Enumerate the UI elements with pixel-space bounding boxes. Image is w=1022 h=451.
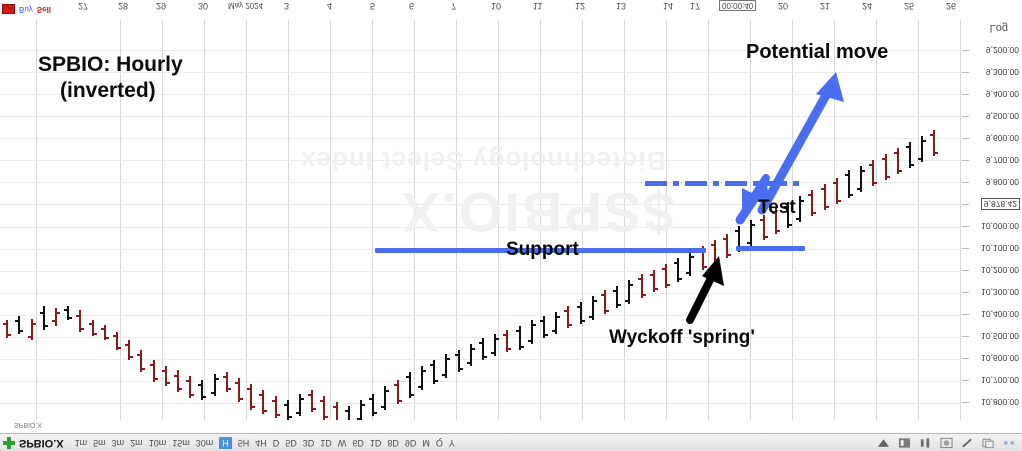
date-tick: 12 xyxy=(575,1,585,11)
timeframe-button-8D[interactable]: 8D xyxy=(387,438,399,448)
chart-plot-area[interactable]: Biotechnology Select Index $SPBIO.X xyxy=(0,20,963,420)
timeframe-button-2m[interactable]: 2m xyxy=(130,438,143,448)
timeframe-button-30m[interactable]: 30m xyxy=(196,438,214,448)
price-tick-dash xyxy=(962,138,969,139)
tc2000-chart-window: Buy Sell 27 28 29 30 May 2024 3 4 5 6 7 … xyxy=(0,0,1022,451)
price-tick-dash xyxy=(962,50,969,51)
label-potential-move: Potential move xyxy=(746,41,888,64)
price-tick-dash xyxy=(962,72,969,73)
price-tick-dash xyxy=(962,314,969,315)
timeframe-toolbar[interactable]: SPBIO.X 1m5m3m2m10m15m30mH5H4HD5D3D1DW6D… xyxy=(0,433,1022,451)
add-icon[interactable] xyxy=(3,437,15,449)
status-strip: SPBIO.X xyxy=(0,420,1022,434)
date-axis[interactable]: Buy Sell 27 28 29 30 May 2024 3 4 5 6 7 … xyxy=(0,0,1022,21)
wyckoff-spring-arrow xyxy=(690,256,724,320)
price-tick-label: 10,200.00 xyxy=(981,265,1019,275)
price-tick-dash xyxy=(962,160,969,161)
date-tick: 14 xyxy=(663,1,673,11)
timeframe-button-1D[interactable]: 1D xyxy=(320,438,332,448)
timeframe-button-9D[interactable]: 9D xyxy=(405,438,417,448)
price-tick-label: 9,800.00 xyxy=(986,177,1019,187)
price-tick-dash xyxy=(962,358,969,359)
timeframe-button-1D[interactable]: 1D xyxy=(370,438,382,448)
ticker-chips: Buy Sell xyxy=(2,0,51,18)
date-tick: 29 xyxy=(156,1,166,11)
price-tick-dash xyxy=(962,94,969,95)
pencil-icon[interactable] xyxy=(961,437,974,449)
date-tick: 13 xyxy=(616,1,626,11)
toolbar-right-group[interactable] xyxy=(875,437,1022,449)
color-swatch-icon xyxy=(2,4,15,14)
candlestick-icon[interactable] xyxy=(919,437,932,449)
price-tick-dash xyxy=(962,380,969,381)
timeframe-button-5H[interactable]: 5H xyxy=(238,438,250,448)
date-tick: 11 xyxy=(533,1,542,11)
date-tick: 4 xyxy=(327,1,332,11)
current-price-box: 9,878.42 xyxy=(981,198,1020,210)
date-tick: 5 xyxy=(370,1,375,11)
timeframe-button-15m[interactable]: 15m xyxy=(172,438,190,448)
bar-chart-icon[interactable] xyxy=(898,437,911,449)
date-tick: 20 xyxy=(778,1,788,11)
date-tick: 26 xyxy=(946,1,956,11)
date-tick: 6 xyxy=(409,1,414,11)
price-tick-dash xyxy=(962,336,969,337)
date-tick: 28 xyxy=(118,1,128,11)
chart-title: SPBIO: Hourly (inverted) xyxy=(38,52,183,105)
date-tick: 24 xyxy=(862,1,872,11)
price-tick-dash xyxy=(962,292,969,293)
price-tick-dash xyxy=(962,182,969,183)
price-tick-dash xyxy=(962,270,969,271)
timeframe-button-Q[interactable]: Q xyxy=(436,438,443,448)
timeframe-button-3D[interactable]: 3D xyxy=(303,438,315,448)
date-tick: 21 xyxy=(820,1,830,11)
date-tick: 7 xyxy=(451,1,456,11)
price-tick-dash xyxy=(962,248,969,249)
date-tick: 30 xyxy=(198,1,208,11)
chip-sell: Sell xyxy=(37,5,51,14)
price-axis[interactable]: Log 9,200.009,300.009,400.009,500.009,60… xyxy=(962,20,1022,420)
price-tick-label: 10,300.00 xyxy=(981,287,1019,297)
price-tick-label: 10,600.00 xyxy=(981,353,1019,363)
date-tick: 25 xyxy=(904,1,914,11)
timeframe-button-1m[interactable]: 1m xyxy=(75,438,88,448)
dots-icon[interactable] xyxy=(1003,437,1016,449)
potential-move-arrow xyxy=(762,72,844,210)
label-wyckoff-spring: Wyckoff 'spring' xyxy=(609,327,755,349)
toolbar-ticker[interactable]: SPBIO.X xyxy=(19,437,64,449)
timeframe-button-M[interactable]: M xyxy=(422,438,430,448)
timeframe-button-Y[interactable]: Y xyxy=(449,438,455,448)
timeframe-button-5D[interactable]: 5D xyxy=(285,438,297,448)
timeframe-button-6D[interactable]: 6D xyxy=(352,438,364,448)
price-tick-dash xyxy=(962,116,969,117)
timeframe-button-4H[interactable]: 4H xyxy=(255,438,267,448)
timeframe-button-W[interactable]: W xyxy=(338,438,347,448)
price-tick-label: 9,500.00 xyxy=(986,111,1019,121)
price-tick-label: 9,300.00 xyxy=(986,67,1019,77)
crosshair-time-box: 00:00:40 xyxy=(719,0,756,11)
timeframe-button-5m[interactable]: 5m xyxy=(93,438,106,448)
price-tick-dash xyxy=(962,402,969,403)
date-tick: 10 xyxy=(491,1,501,11)
month-label: May 2024 xyxy=(228,1,263,10)
label-test: Test xyxy=(758,197,796,219)
date-tick: 27 xyxy=(78,1,88,11)
status-ticker: SPBIO.X xyxy=(14,421,42,428)
price-tick-label: 10,800.00 xyxy=(981,397,1019,407)
chart-type-icon[interactable] xyxy=(940,437,953,449)
chip-buy: Buy xyxy=(19,5,33,14)
date-tick: 3 xyxy=(284,1,289,11)
price-tick-label: 9,400.00 xyxy=(986,89,1019,99)
price-tick-label: 10,700.00 xyxy=(981,375,1019,385)
timeframe-button-10m[interactable]: 10m xyxy=(149,438,167,448)
price-tick-label: 9,200.00 xyxy=(986,45,1019,55)
timeframe-button-3m[interactable]: 3m xyxy=(112,438,125,448)
price-tick-dash xyxy=(962,204,969,205)
triangle-icon[interactable] xyxy=(877,437,890,449)
log-scale-label[interactable]: Log xyxy=(990,22,1008,34)
price-tick-label: 9,600.00 xyxy=(986,133,1019,143)
timeframe-button-H[interactable]: H xyxy=(219,437,232,449)
price-tick-label: 10,100.00 xyxy=(981,243,1019,253)
date-tick: 17 xyxy=(690,1,700,11)
price-tick-label: 10,400.00 xyxy=(981,309,1019,319)
price-tick-label: 10,500.00 xyxy=(981,331,1019,341)
copy-icon[interactable] xyxy=(982,437,995,449)
label-support: Support xyxy=(506,239,579,261)
price-tick-dash xyxy=(962,226,969,227)
price-tick-label: 9,700.00 xyxy=(986,155,1019,165)
timeframe-button-D[interactable]: D xyxy=(273,438,280,448)
chart-title-line2: (inverted) xyxy=(60,78,183,104)
chart-title-line1: SPBIO: Hourly xyxy=(38,53,183,76)
price-tick-label: 10,000.00 xyxy=(981,221,1019,231)
